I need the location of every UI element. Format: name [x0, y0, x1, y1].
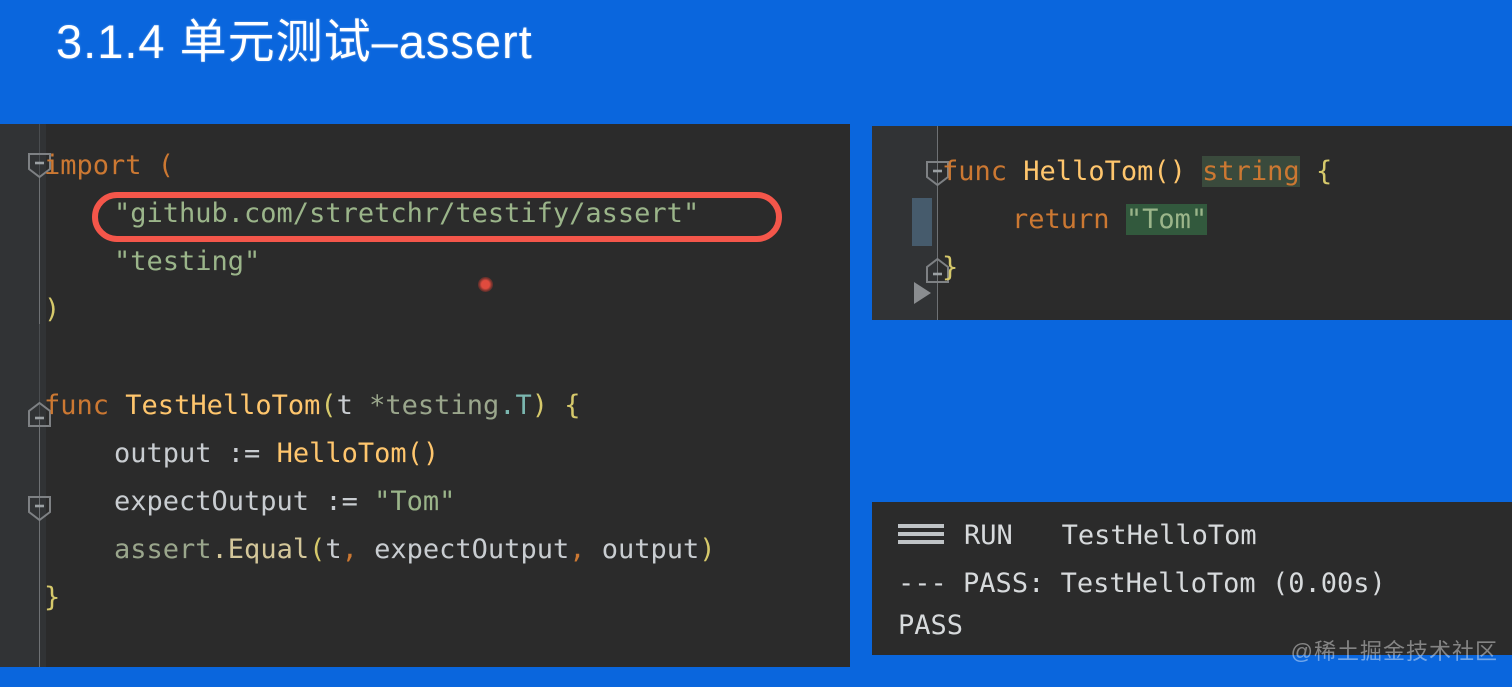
code-line-expect-assign[interactable]: expectOutput := "Tom" — [0, 478, 850, 526]
pkg-assert: assert — [114, 534, 212, 565]
source-code-line-container[interactable]: func HelloTom() string { return "Tom" } — [872, 126, 1512, 320]
paren-close-assert: ) — [699, 534, 715, 565]
source-keyword-return: return — [1012, 204, 1110, 235]
source-line-return[interactable]: return "Tom" — [872, 196, 1512, 244]
var-output: output — [114, 438, 212, 469]
comma-1: , — [342, 534, 375, 565]
source-brace-close: } — [942, 252, 958, 283]
code-line-import-testing[interactable]: "testing" — [0, 238, 850, 286]
arg-output: output — [602, 534, 700, 565]
console-line-run: RUN TestHelloTom — [964, 512, 1257, 560]
page-title: 3.1.4 单元测试–assert — [56, 10, 533, 74]
source-space-2 — [1186, 156, 1202, 187]
paren-open-assert: ( — [309, 534, 325, 565]
space2 — [548, 390, 564, 421]
func-name-testhellotom: TestHelloTom — [125, 390, 320, 421]
source-line-func-signature[interactable]: func HelloTom() string { — [872, 148, 1512, 196]
source-keyword-func: func — [942, 156, 1007, 187]
watermark: @稀土掘金技术社区 — [1291, 639, 1498, 665]
source-space-1 — [1007, 156, 1023, 187]
source-space-4 — [1110, 204, 1126, 235]
method-equal: .Equal — [212, 534, 310, 565]
console-run-test-name: TestHelloTom — [1062, 520, 1257, 551]
param-type-testing: *testing — [369, 390, 499, 421]
brace-open: { — [564, 390, 580, 421]
source-space-3 — [1300, 156, 1316, 187]
keyword-import: import ( — [44, 150, 174, 181]
code-line-container[interactable]: import ( "github.com/stretchr/testify/as… — [0, 124, 850, 667]
brace-close: } — [44, 582, 60, 613]
string-tom: "Tom" — [374, 486, 455, 517]
assign-op-2: := — [309, 486, 374, 517]
param-type-T: .T — [499, 390, 532, 421]
assign-op-1: := — [212, 438, 277, 469]
var-expectoutput: expectOutput — [114, 486, 309, 517]
source-line-brace-close[interactable]: } — [872, 244, 1512, 292]
comma-2: , — [569, 534, 602, 565]
console-line-result: PASS — [898, 602, 963, 650]
code-line-import-open[interactable]: import ( — [0, 142, 850, 190]
paren-close: ) — [44, 294, 60, 325]
code-line-output-assign[interactable]: output := HelloTom() — [0, 430, 850, 478]
test-output-panel: RUN TestHelloTom --- PASS: TestHelloTom … — [872, 502, 1512, 655]
keyword-func: func — [44, 390, 109, 421]
source-code-panel: func HelloTom() string { return "Tom" } — [872, 126, 1512, 320]
code-line-assert-equal[interactable]: assert.Equal(t, expectOutput, output) — [0, 526, 850, 574]
source-return-type-string: string — [1202, 156, 1300, 187]
console-pass-test-name: TestHelloTom — [1061, 568, 1256, 599]
console-result-pass: PASS — [898, 610, 963, 641]
arg-t: t — [325, 534, 341, 565]
import-path-testify: "github.com/stretchr/testify/assert" — [114, 198, 699, 229]
source-string-tom: "Tom" — [1126, 204, 1207, 235]
cursor-pointer-dot — [478, 277, 493, 292]
code-line-import-close[interactable]: ) — [0, 286, 850, 334]
run-marker-icon — [898, 524, 944, 544]
source-brace-open: { — [1316, 156, 1332, 187]
console-line-pass-detail: --- PASS: TestHelloTom (0.00s) — [898, 560, 1386, 608]
call-hellotom: HelloTom() — [277, 438, 440, 469]
console-pass-marker: --- — [898, 568, 947, 599]
code-line-import-testify[interactable]: "github.com/stretchr/testify/assert" — [0, 190, 850, 238]
console-pass-duration: (0.00s) — [1272, 568, 1386, 599]
param-name-t: t — [337, 390, 370, 421]
console-pass-gap — [947, 568, 963, 599]
import-path-testing: "testing" — [114, 246, 260, 277]
console-pass-gap3 — [1256, 568, 1272, 599]
code-line-func-close[interactable]: } — [0, 574, 850, 622]
console-pass-gap2 — [1044, 568, 1060, 599]
console-run-gap — [1013, 520, 1062, 551]
arg-expectoutput: expectOutput — [374, 534, 569, 565]
paren-close-params: ) — [532, 390, 548, 421]
console-run-label: RUN — [964, 520, 1013, 551]
unit-test-code-panel: import ( "github.com/stretchr/testify/as… — [0, 124, 850, 667]
space — [109, 390, 125, 421]
code-line-func-signature[interactable]: func TestHelloTom(t *testing.T) { — [0, 382, 850, 430]
source-func-name-hellotom: HelloTom() — [1023, 156, 1186, 187]
paren-open: ( — [320, 390, 336, 421]
console-pass-label: PASS: — [963, 568, 1044, 599]
